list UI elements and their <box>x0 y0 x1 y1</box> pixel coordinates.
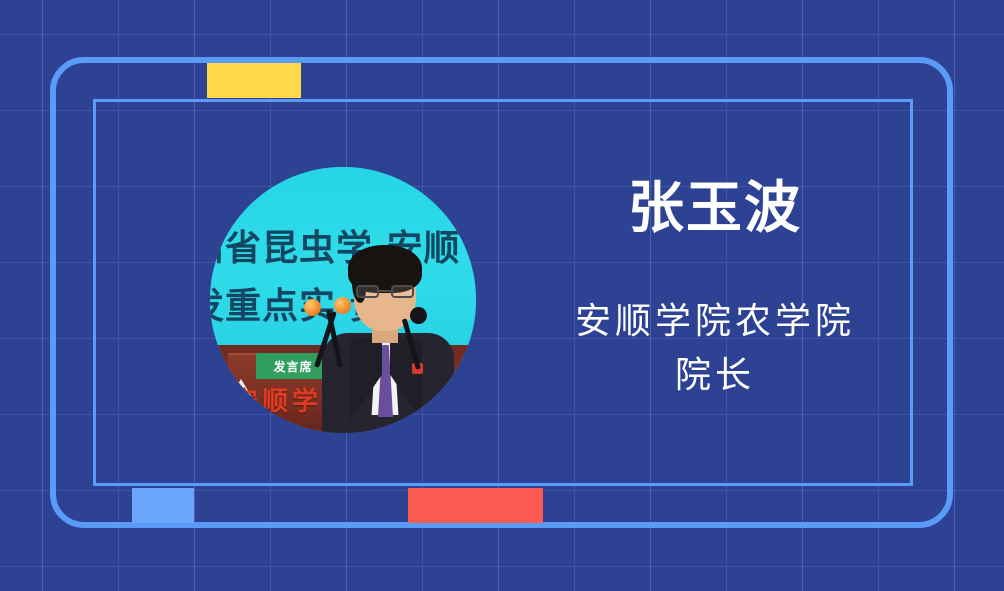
speaker-title-line-1: 安顺学院农学院 <box>500 295 930 349</box>
speaker-name: 张玉波 <box>500 180 930 239</box>
podium-sign-label: 发言席 <box>273 358 312 375</box>
glasses-lens-right <box>391 285 414 298</box>
yellow-accent-block <box>207 63 301 98</box>
glasses-bridge <box>379 290 391 292</box>
microphone-head-left <box>304 299 321 316</box>
speaker-photo-image: 州省昆虫学 安顺 发重点实 责 发言席 安顺学院 <box>210 167 476 433</box>
speaker-title-line-2: 院长 <box>500 349 930 403</box>
blue-accent-block <box>132 488 194 523</box>
speaker-text-block: 张玉波 安顺学院农学院 院长 <box>500 180 930 403</box>
speaker-title: 安顺学院农学院 院长 <box>500 295 930 403</box>
glasses-lens-left <box>356 285 379 298</box>
glasses-icon <box>356 285 414 299</box>
red-accent-block <box>408 488 543 523</box>
speaker-intro-slide: 州省昆虫学 安顺 发重点实 责 发言席 安顺学院 <box>0 0 1004 591</box>
microphone-head-far-right <box>410 307 427 324</box>
speaker-figure <box>316 229 466 433</box>
microphone-head-right <box>334 297 351 314</box>
speaker-photo-circle: 州省昆虫学 安顺 发重点实 责 发言席 安顺学院 <box>210 167 476 433</box>
